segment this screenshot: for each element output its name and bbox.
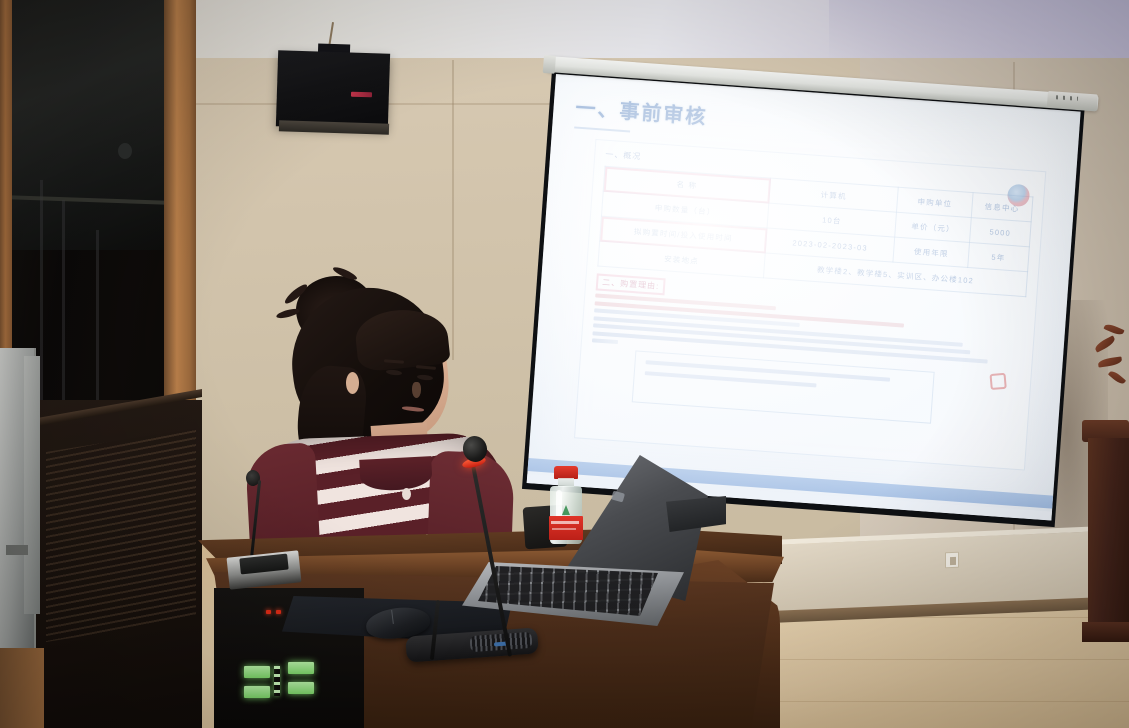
presentation-slide: 一、事前审核 一、概况 名 称 计算机 申购单位 信息中心 申购数量（台） xyxy=(527,74,1081,521)
ceiling-light-tint xyxy=(829,0,1129,62)
note-line xyxy=(645,360,889,381)
reason-heading: 二、购置理由: xyxy=(596,273,666,295)
conference-room-scene: 一、事前审核 一、概况 名 称 计算机 申购单位 信息中心 申购数量（台） xyxy=(0,0,1129,728)
speaker-brand-logo xyxy=(351,92,372,98)
ear xyxy=(346,372,359,394)
slide-title-underline xyxy=(574,126,630,132)
plant-arrangement xyxy=(1092,322,1129,422)
white-panel-inner xyxy=(24,356,40,614)
collar-button xyxy=(402,488,411,500)
panel-tag xyxy=(6,545,28,555)
pedestal-base xyxy=(1082,622,1129,642)
wall-mounted-speaker xyxy=(276,50,390,129)
roller-end-cap-left xyxy=(543,55,556,74)
projection-screen: 一、事前审核 一、概况 名 称 计算机 申购单位 信息中心 申购数量（台） xyxy=(548,56,1108,526)
dark-window-glass xyxy=(12,0,164,250)
wall-power-outlet xyxy=(945,552,959,569)
pedestal-column xyxy=(1088,438,1129,638)
screen-surface: 一、事前审核 一、概况 名 称 计算机 申购单位 信息中心 申购数量（台） xyxy=(527,74,1081,521)
cabinet-slats xyxy=(46,428,196,642)
reason-line xyxy=(592,338,618,344)
nose xyxy=(412,382,421,398)
approval-seal-icon xyxy=(989,373,1006,390)
bottle-label-text xyxy=(551,521,579,524)
bottle-label-subtext xyxy=(552,528,576,530)
curtain-knob xyxy=(118,143,132,159)
slide-content-card: 一、概况 名 称 计算机 申购单位 信息中心 申购数量（台） 10台 单价（元） xyxy=(574,139,1046,471)
cabinet-leg xyxy=(0,648,44,728)
